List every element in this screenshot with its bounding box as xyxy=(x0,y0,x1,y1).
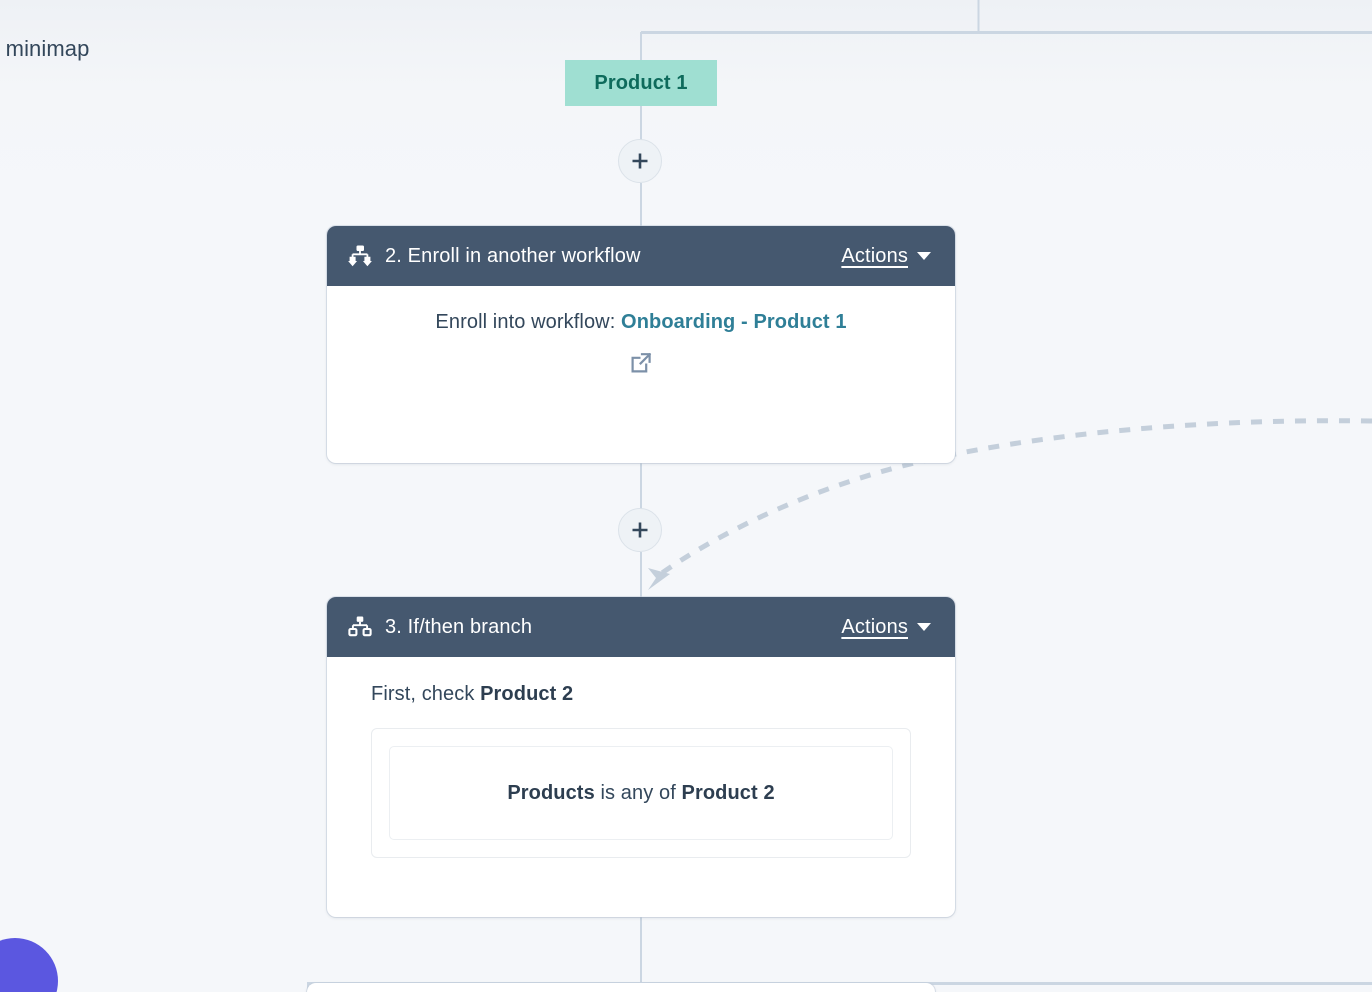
step-card-enroll-in-another-workflow[interactable]: 2. Enroll in another workflow Actions En… xyxy=(327,226,955,463)
plus-icon xyxy=(630,520,650,540)
step-card-body: Enroll into workflow: Onboarding - Produ… xyxy=(327,286,955,406)
actions-label: Actions xyxy=(841,245,908,268)
actions-dropdown-enroll[interactable]: Actions xyxy=(841,245,931,268)
dashed-goto-arrowhead xyxy=(648,568,670,590)
step-card-title: 3. If/then branch xyxy=(385,616,841,639)
step-card-body: First, check Product 2 Products is any o… xyxy=(327,657,955,886)
sitemap-branch-icon xyxy=(347,614,373,640)
step-card-next-partial[interactable] xyxy=(307,983,935,992)
add-step-button-1[interactable] xyxy=(618,139,662,183)
condition-property: Products xyxy=(507,782,594,804)
condition-text: Products is any of Product 2 xyxy=(507,782,774,805)
condition-value: Product 2 xyxy=(682,782,775,804)
step-card-header: 2. Enroll in another workflow Actions xyxy=(327,226,955,286)
actions-label: Actions xyxy=(841,616,908,639)
branch-check-prefix: First, check xyxy=(371,683,474,705)
enroll-prefix: Enroll into workflow: xyxy=(435,311,615,333)
enroll-workflow-icon xyxy=(347,243,373,269)
actions-dropdown-branch[interactable]: Actions xyxy=(841,616,931,639)
condition-row[interactable]: Products is any of Product 2 xyxy=(389,746,893,840)
condition-group-outer[interactable]: Products is any of Product 2 xyxy=(371,728,911,858)
step-card-if-then-branch[interactable]: 3. If/then branch Actions First, check P… xyxy=(327,597,955,917)
external-link-icon[interactable] xyxy=(629,351,653,380)
branch-check-line: First, check Product 2 xyxy=(371,683,927,706)
enroll-into-workflow-line: Enroll into workflow: Onboarding - Produ… xyxy=(435,308,846,337)
step-card-header: 3. If/then branch Actions xyxy=(327,597,955,657)
chevron-down-icon xyxy=(917,252,931,260)
branch-check-property: Product 2 xyxy=(480,683,573,705)
help-bubble-blob[interactable] xyxy=(0,938,58,992)
workflow-canvas[interactable]: Show minimap Product 1 2. Enroll in anot… xyxy=(0,0,1372,992)
workflow-link[interactable]: Onboarding - Product 1 xyxy=(621,311,847,333)
condition-operator: is any of xyxy=(600,782,675,804)
chevron-down-icon xyxy=(917,623,931,631)
step-card-title: 2. Enroll in another workflow xyxy=(385,245,841,268)
plus-icon xyxy=(630,151,650,171)
branch-label-product-1: Product 1 xyxy=(565,60,717,106)
show-minimap-label[interactable]: Show minimap xyxy=(0,36,89,62)
add-step-button-2[interactable] xyxy=(618,508,662,552)
